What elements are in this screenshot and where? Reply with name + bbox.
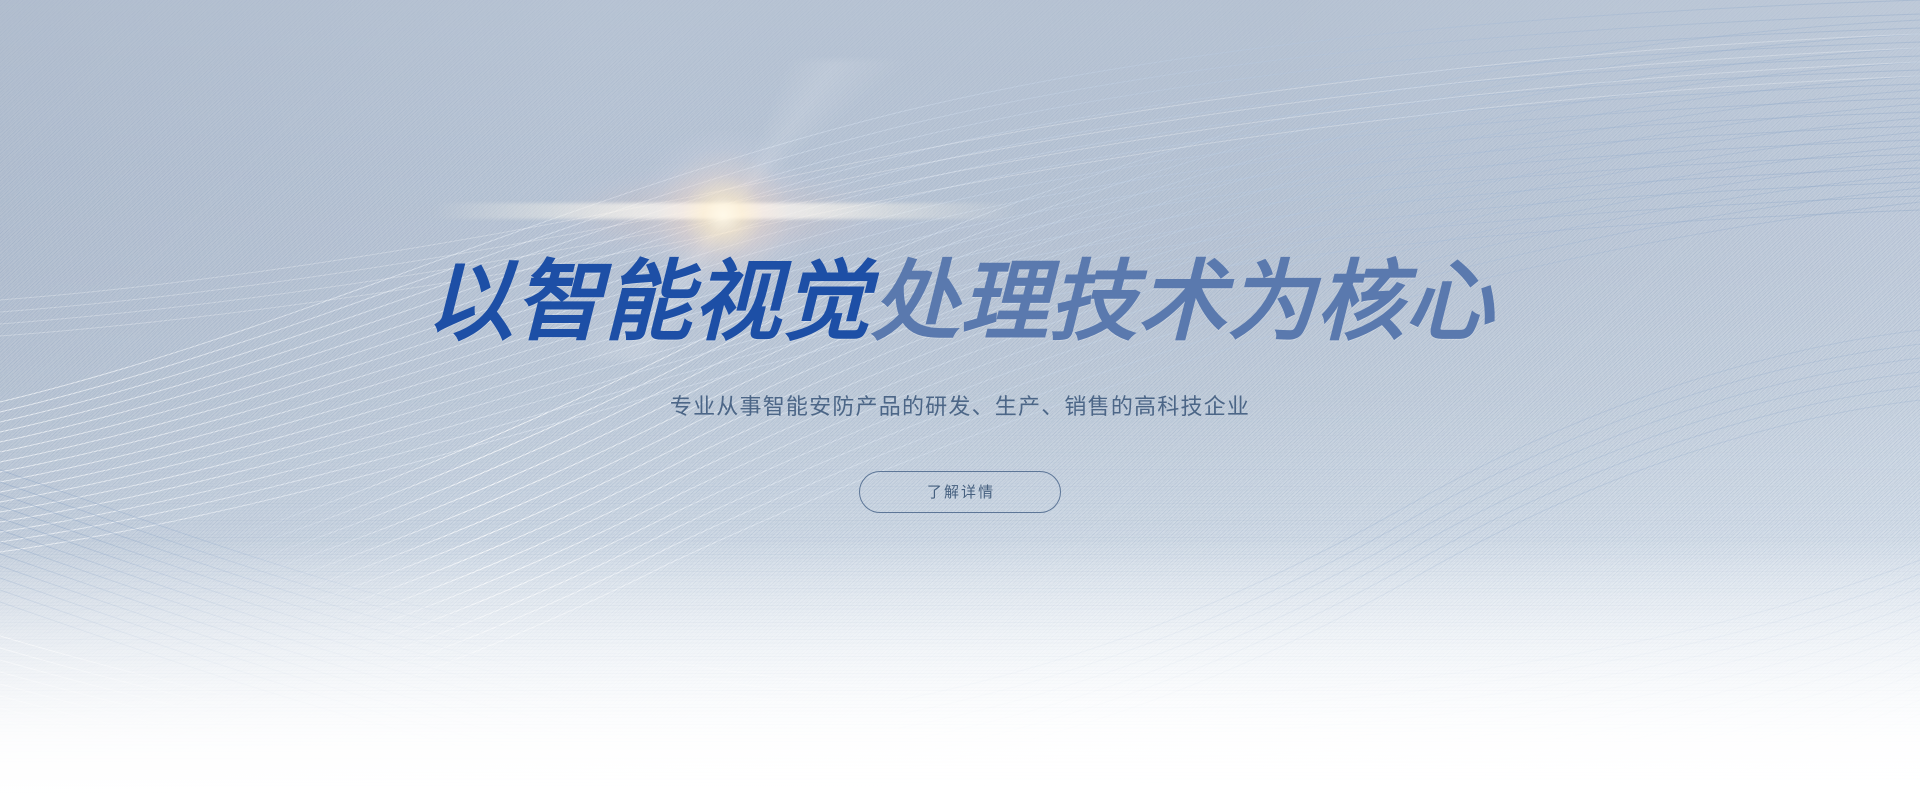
hero-banner: 以智能视觉处理技术为核心 专业从事智能安防产品的研发、生产、销售的高科技企业 了… <box>0 0 1920 800</box>
hero-subtitle: 专业从事智能安防产品的研发、生产、销售的高科技企业 <box>670 392 1250 423</box>
hero-content: 以智能视觉处理技术为核心 专业从事智能安防产品的研发、生产、销售的高科技企业 了… <box>0 0 1920 800</box>
hero-headline: 以智能视觉处理技术为核心 <box>426 258 1495 346</box>
hero-headline-primary: 以智能视觉 <box>426 252 871 351</box>
hero-headline-secondary: 处理技术为核心 <box>871 252 1494 351</box>
learn-more-button[interactable]: 了解详情 <box>859 471 1061 513</box>
